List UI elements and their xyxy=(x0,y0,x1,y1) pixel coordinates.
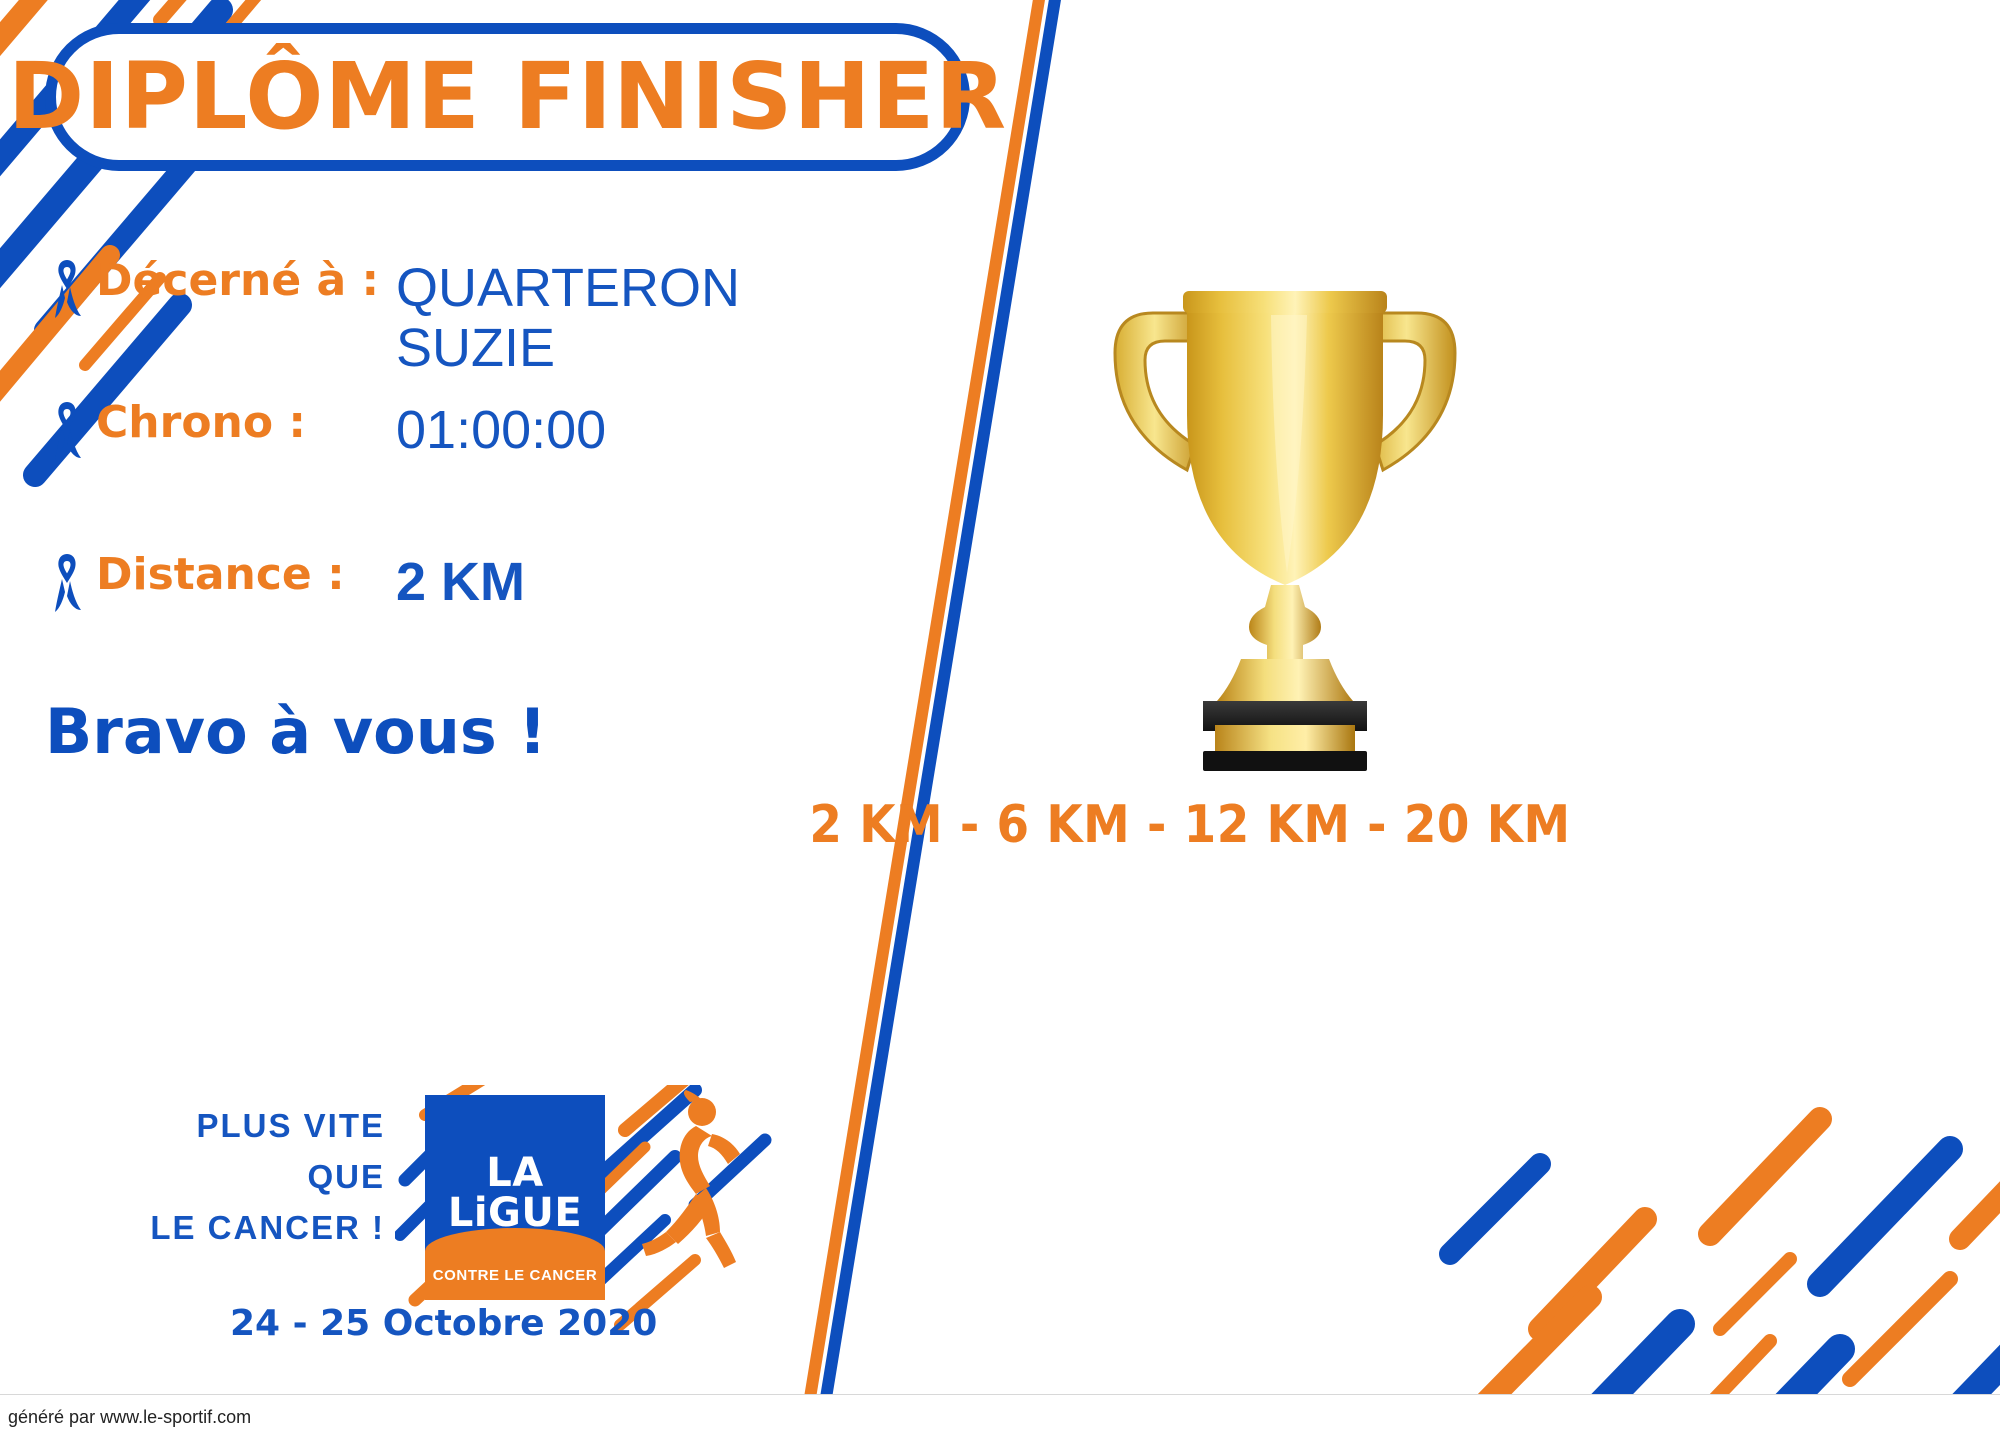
field-label-distance: Distance : xyxy=(96,552,396,598)
ribbon-icon xyxy=(48,258,86,322)
trophy-icon xyxy=(1075,255,1495,775)
congratulations-text: Bravo à vous ! xyxy=(45,695,547,768)
logo-orange-band xyxy=(425,1228,605,1300)
logo-secondary-text: CONTRE LE CANCER xyxy=(425,1267,605,1284)
sponsor-slogan-line-2: QUE xyxy=(105,1151,385,1202)
field-label-recipient: Décerné à : xyxy=(96,258,396,304)
la-ligue-logo: LA LiGUE CONTRE LE CANCER xyxy=(425,1095,605,1300)
field-row-recipient: Décerné à : QUARTERON SUZIE xyxy=(48,258,740,379)
footer-text: généré par www.le-sportif.com xyxy=(8,1407,251,1428)
ribbon-icon xyxy=(48,400,86,464)
field-value-recipient: QUARTERON SUZIE xyxy=(396,258,740,379)
decorative-stripes-bottom-right xyxy=(1420,1079,2000,1439)
distances-list: 2 KM - 6 KM - 12 KM - 20 KM xyxy=(809,795,1570,855)
page-title: DIPLÔME FINISHER xyxy=(8,51,1007,143)
field-value-chrono: 01:00:00 xyxy=(396,400,606,460)
footer-bar: généré par www.le-sportif.com xyxy=(0,1394,2000,1439)
field-row-distance: Distance : 2 KM xyxy=(48,552,525,616)
sponsor-slogan: PLUS VITE QUE LE CANCER ! xyxy=(105,1100,385,1253)
logo-primary-text: LA LiGUE xyxy=(425,1153,605,1233)
stripes-bottom-right-svg xyxy=(1420,1079,2000,1439)
field-value-distance: 2 KM xyxy=(396,552,525,612)
certificate-title-box: DIPLÔME FINISHER xyxy=(45,23,970,171)
runner-silhouette-icon xyxy=(640,1090,750,1275)
field-row-chrono: Chrono : 01:00:00 xyxy=(48,400,606,464)
certificate-canvas: DIPLÔME FINISHER Décerné à : QUARTERON S… xyxy=(0,0,2000,1439)
field-label-chrono: Chrono : xyxy=(96,400,396,446)
sponsor-slogan-line-3: LE CANCER ! xyxy=(105,1202,385,1253)
ribbon-icon xyxy=(48,552,86,616)
sponsor-slogan-line-1: PLUS VITE xyxy=(105,1100,385,1151)
event-date: 24 - 25 Octobre 2020 xyxy=(230,1303,657,1344)
